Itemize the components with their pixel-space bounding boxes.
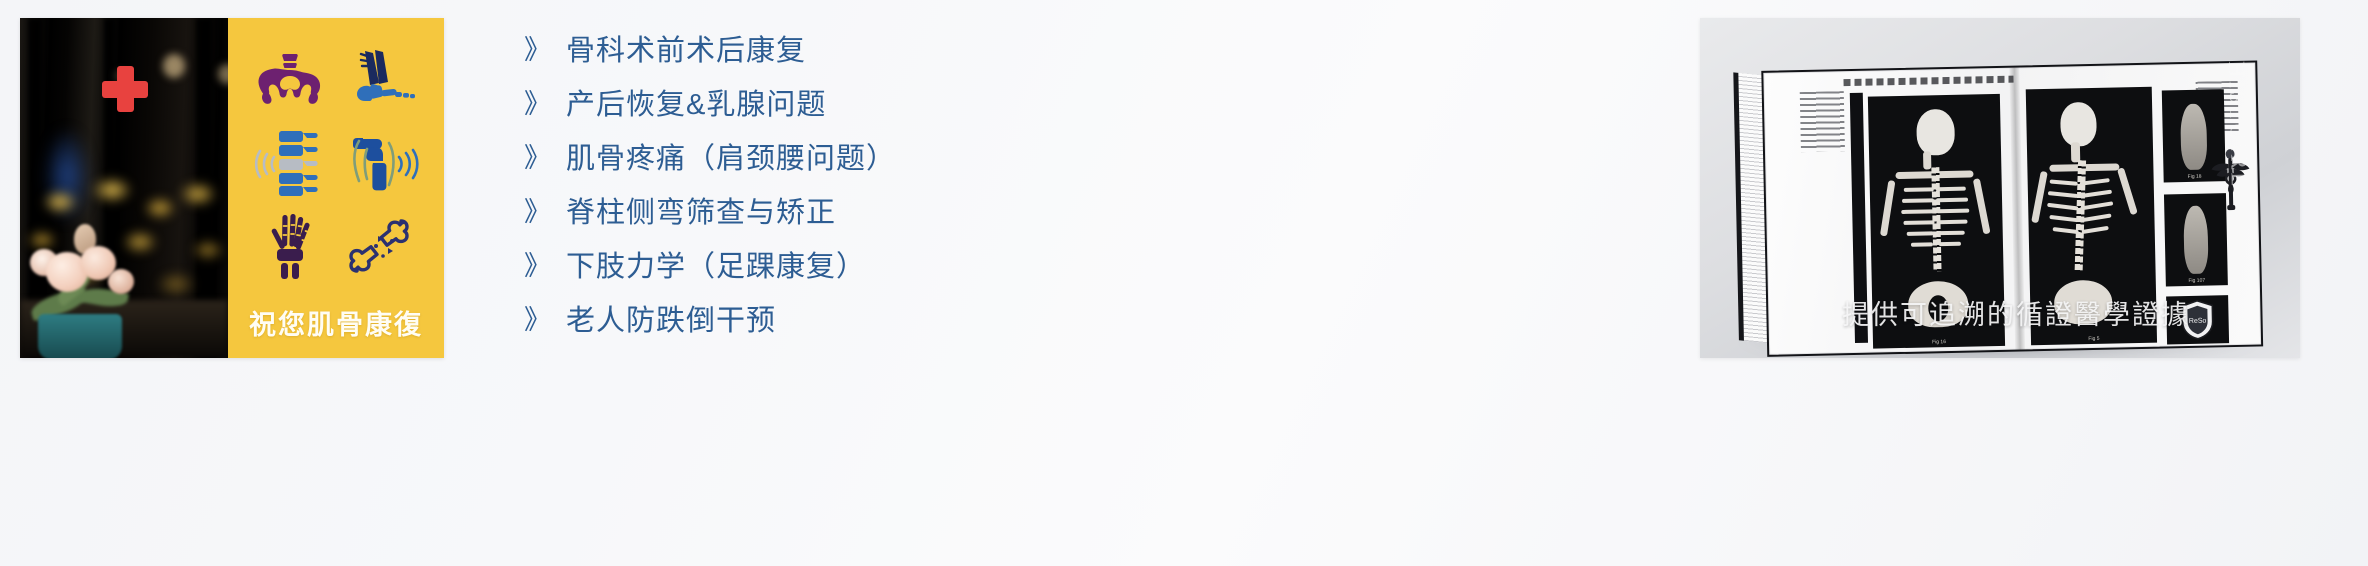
list-item-label: 产后恢复&乳腺问题 [566,90,826,120]
double-chevron-icon: 》 [524,144,552,172]
list-item-label: 骨科术前术后康复 [566,36,806,66]
list-item[interactable]: 》 老人防跌倒干预 [524,306,1164,336]
yellow-icon-panel: 祝您肌骨康復 [228,18,444,358]
figure-label: Fig 107 [2166,277,2228,284]
list-item[interactable]: 》 脊柱侧弯筛查与矫正 [524,198,1164,228]
hand-skeleton-icon [259,213,321,286]
figure-label: Fig 16 [1873,338,2005,347]
list-item[interactable]: 》 骨科术前术后康复 [524,36,1164,66]
list-item-label: 脊柱侧弯筛查与矫正 [566,198,836,228]
list-item[interactable]: 》 下肢力学（足踝康复） [524,252,1164,282]
book-caption-text [1800,91,1845,152]
list-item-label: 肌骨疼痛（肩颈腰问题） [566,144,896,174]
red-cross-icon [102,66,148,112]
photo-rose [108,269,134,294]
double-chevron-icon: 》 [524,306,552,334]
list-item-label: 下肢力学（足踝康复） [566,252,866,282]
photo-flower-pot [38,314,122,358]
bone-icon-grid [243,44,429,286]
service-list: 》 骨科术前术后康复 》 产后恢复&乳腺问题 》 肌骨疼痛（肩颈腰问题） 》 脊… [524,36,1164,336]
list-item[interactable]: 》 肌骨疼痛（肩颈腰问题） [524,144,1164,174]
list-item[interactable]: 》 产后恢复&乳腺问题 [524,90,1164,120]
book-photo-caption: 提供可追溯的循證醫學證據 [1746,293,2286,332]
spine-vertebrae-icon [252,129,328,202]
yellow-panel-caption: 祝您肌骨康復 [228,303,444,342]
knee-joint-icon [345,131,421,200]
list-item-label: 老人防跌倒干预 [566,306,776,336]
bone-fracture-icon [347,217,419,282]
left-collage: 祝您肌骨康復 [20,18,444,358]
book-running-head [1843,76,2013,87]
anatomy-book-photo: Fig 16 Fig 5 [1700,18,2300,358]
double-chevron-icon: 》 [524,198,552,226]
ankle-foot-bone-icon [347,48,419,115]
figure-label: Fig 5 [2031,335,2157,344]
double-chevron-icon: 》 [524,90,552,118]
double-chevron-icon: 》 [524,36,552,64]
florist-photo [20,18,228,358]
double-chevron-icon: 》 [524,252,552,280]
photo-bokeh [163,54,185,78]
pelvis-bone-icon [256,52,324,111]
